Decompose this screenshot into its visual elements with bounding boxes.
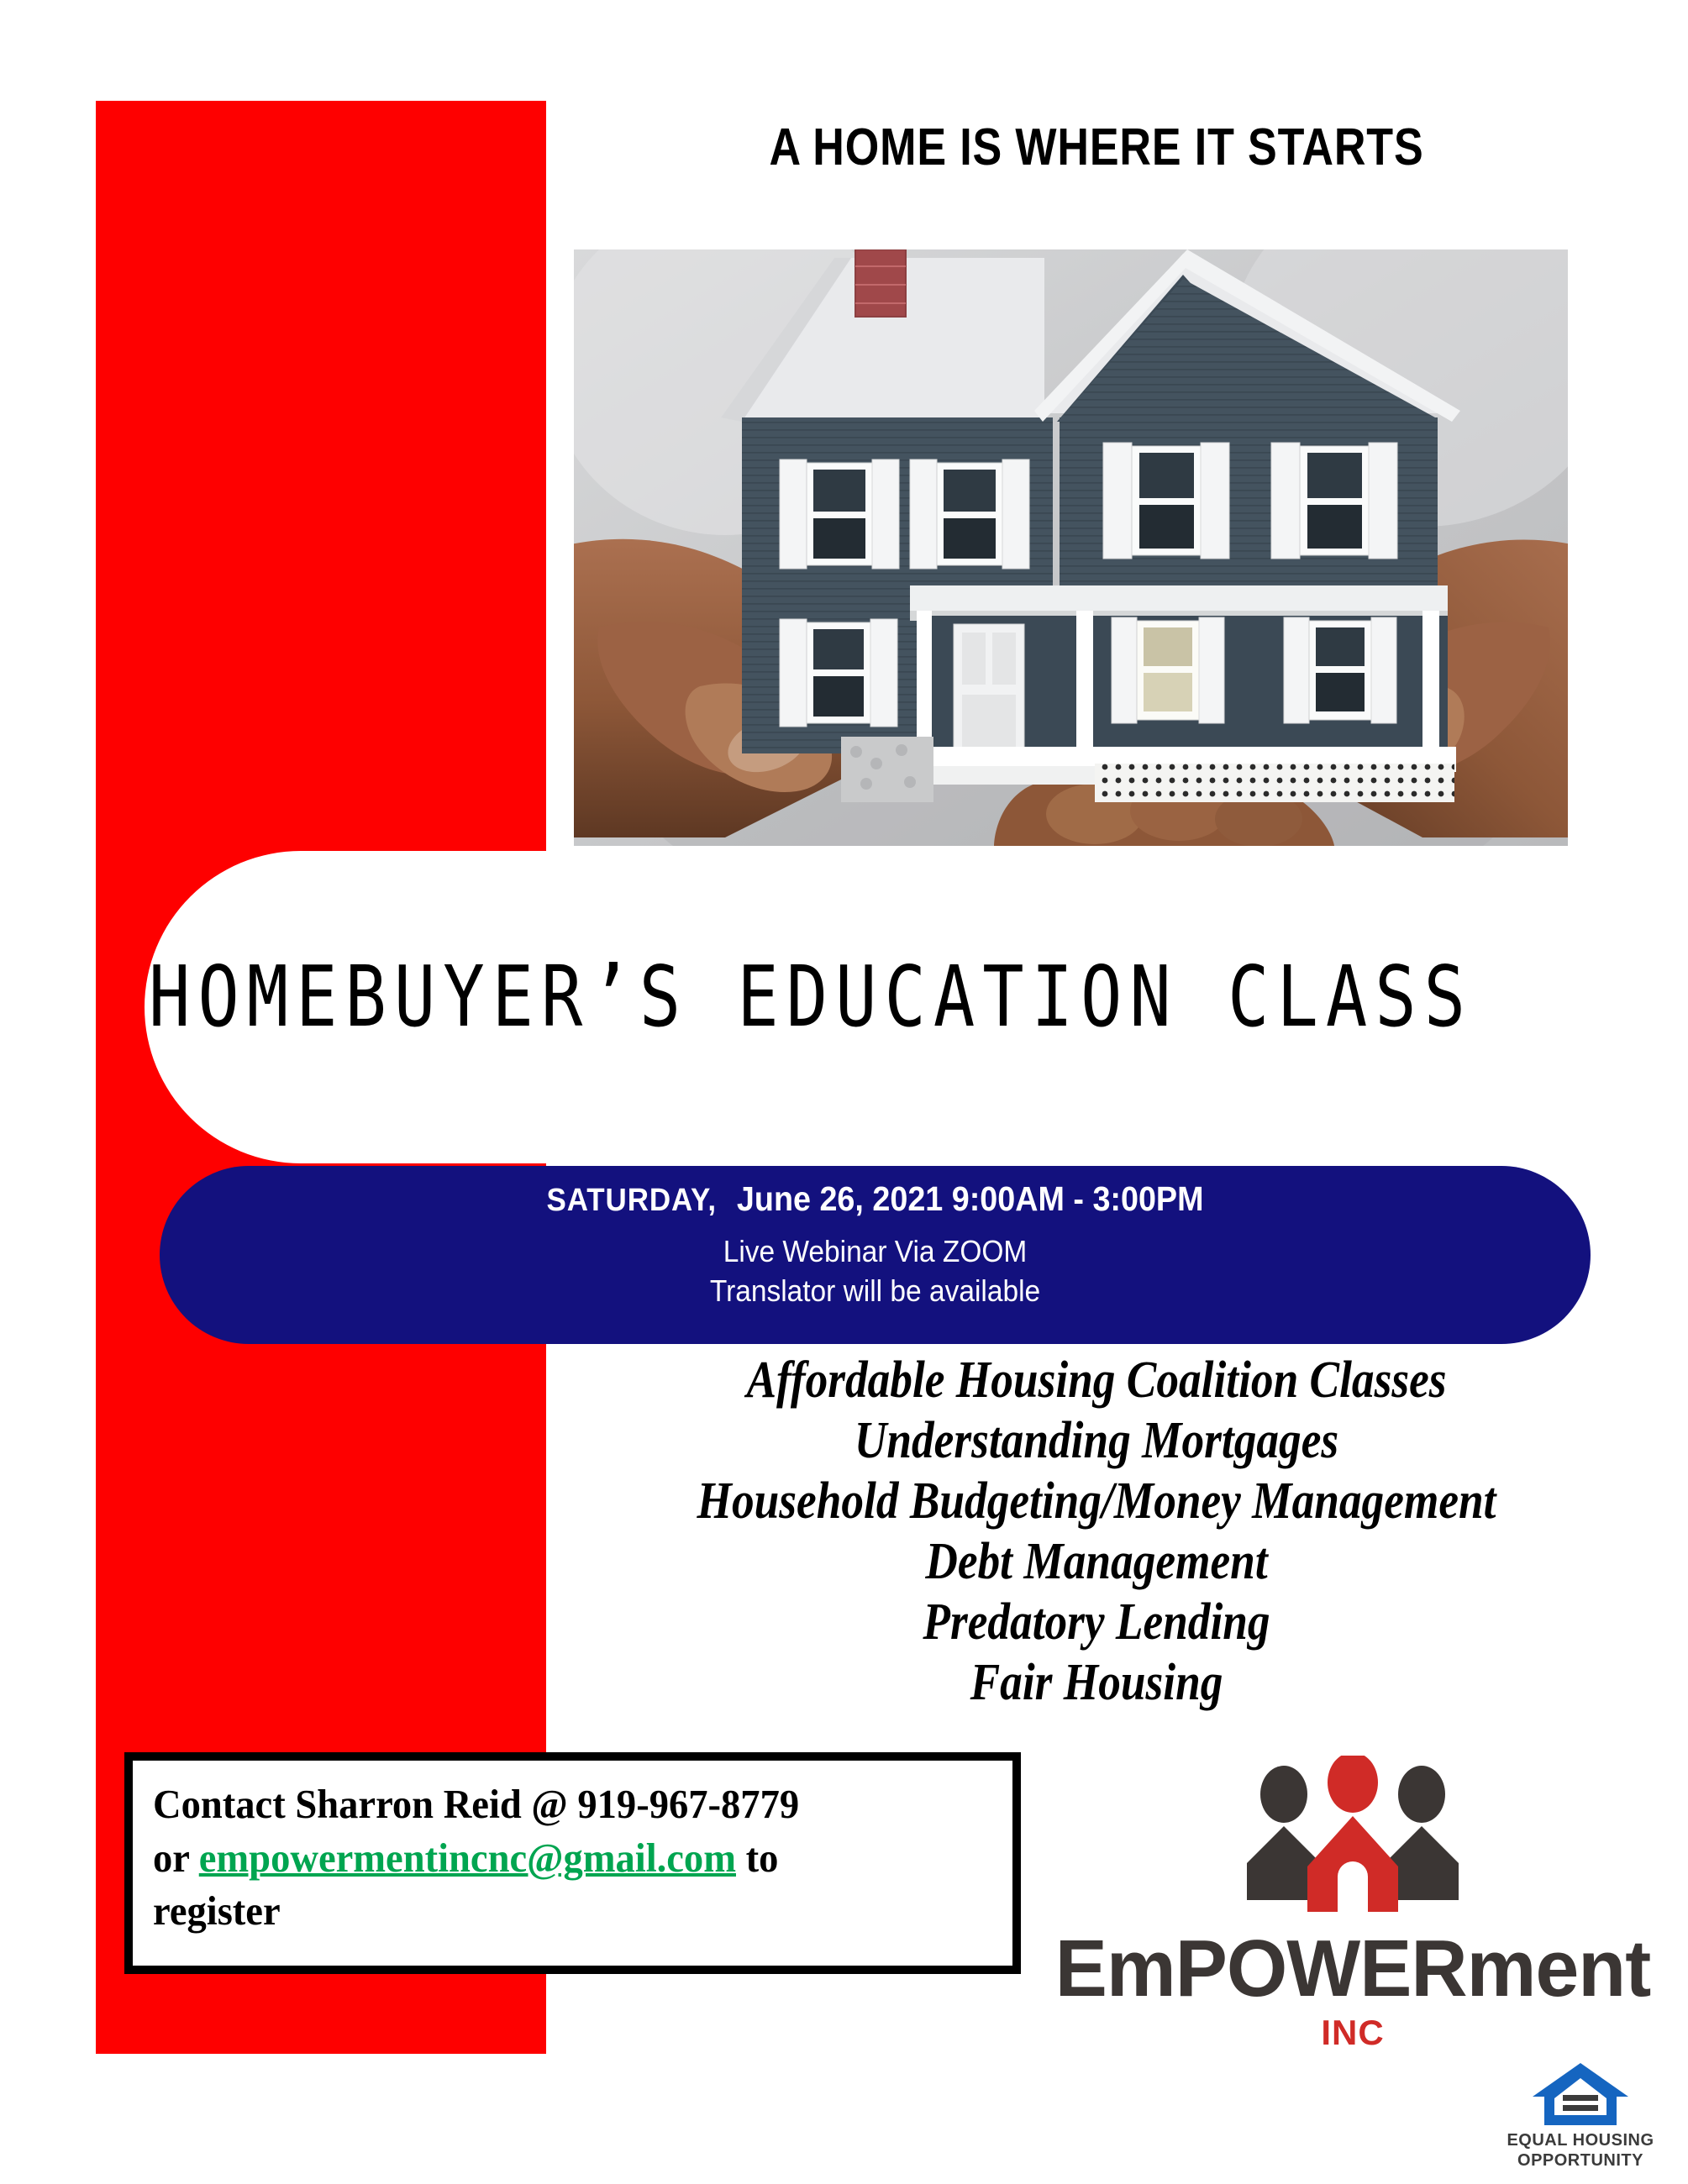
topic-list: Affordable Housing Coalition Classes Und… [546,1351,1647,1713]
event-details-text: SATURDAY,June 26, 2021 9:00AM - 3:00PM L… [160,1178,1591,1311]
contact-line-1: Contact Sharron Reid @ 919-967-8779 [153,1777,970,1831]
topic-item: Fair Housing [623,1653,1570,1714]
class-title: HOMEBUYER’S EDUCATION CLASS [0,949,1622,1047]
equal-housing-opportunity-logo: EQUAL HOUSING OPPORTUNITY [1501,2060,1660,2170]
topic-item: Household Budgeting/Money Management [623,1472,1570,1532]
eho-line-1: EQUAL HOUSING [1501,2132,1660,2150]
topic-item: Predatory Lending [623,1593,1570,1653]
contact-to: to [736,1835,778,1881]
event-format: Live Webinar Via ZOOM [210,1231,1541,1272]
contact-prefix: Contact Sharron Reid @ [153,1781,577,1827]
eho-line-2: OPPORTUNITY [1501,2152,1660,2171]
model-house-illustration [574,249,1568,846]
contact-line-2: or empowermentincnc@gmail.com to [153,1831,970,1885]
logo-wordmark: EmPOWERment [1039,1929,1667,2009]
logo-suffix: INC [1029,2013,1676,2053]
equal-housing-house-icon [1529,2060,1632,2130]
contact-or: or [153,1835,199,1881]
event-details-pill: SATURDAY,June 26, 2021 9:00AM - 3:00PM L… [160,1166,1591,1344]
topic-item: Affordable Housing Coalition Classes [623,1351,1570,1411]
page-headline: A HOME IS WHERE IT STARTS [634,118,1559,177]
event-translator-note: Translator will be available [210,1271,1541,1311]
flyer-page: A HOME IS WHERE IT STARTS [0,0,1688,2184]
contact-box: Contact Sharron Reid @ 919-967-8779 or e… [124,1752,1021,1974]
topic-item: Understanding Mortgages [623,1411,1570,1472]
event-date-line: SATURDAY,June 26, 2021 9:00AM - 3:00PM [217,1178,1533,1221]
event-day: SATURDAY, [546,1183,717,1218]
three-people-house-icon [1227,1756,1479,1924]
event-date-time: June 26, 2021 9:00AM - 3:00PM [737,1179,1204,1218]
contact-phone: 919-967-8779 [577,1781,799,1827]
contact-email-link[interactable]: empowermentincnc@gmail.com [199,1835,736,1881]
empowerment-logo: EmPOWERment INC [1029,1756,1676,2053]
model-house-photo [574,249,1568,846]
contact-line-3: register [153,1884,970,1938]
topic-item: Debt Management [623,1532,1570,1593]
